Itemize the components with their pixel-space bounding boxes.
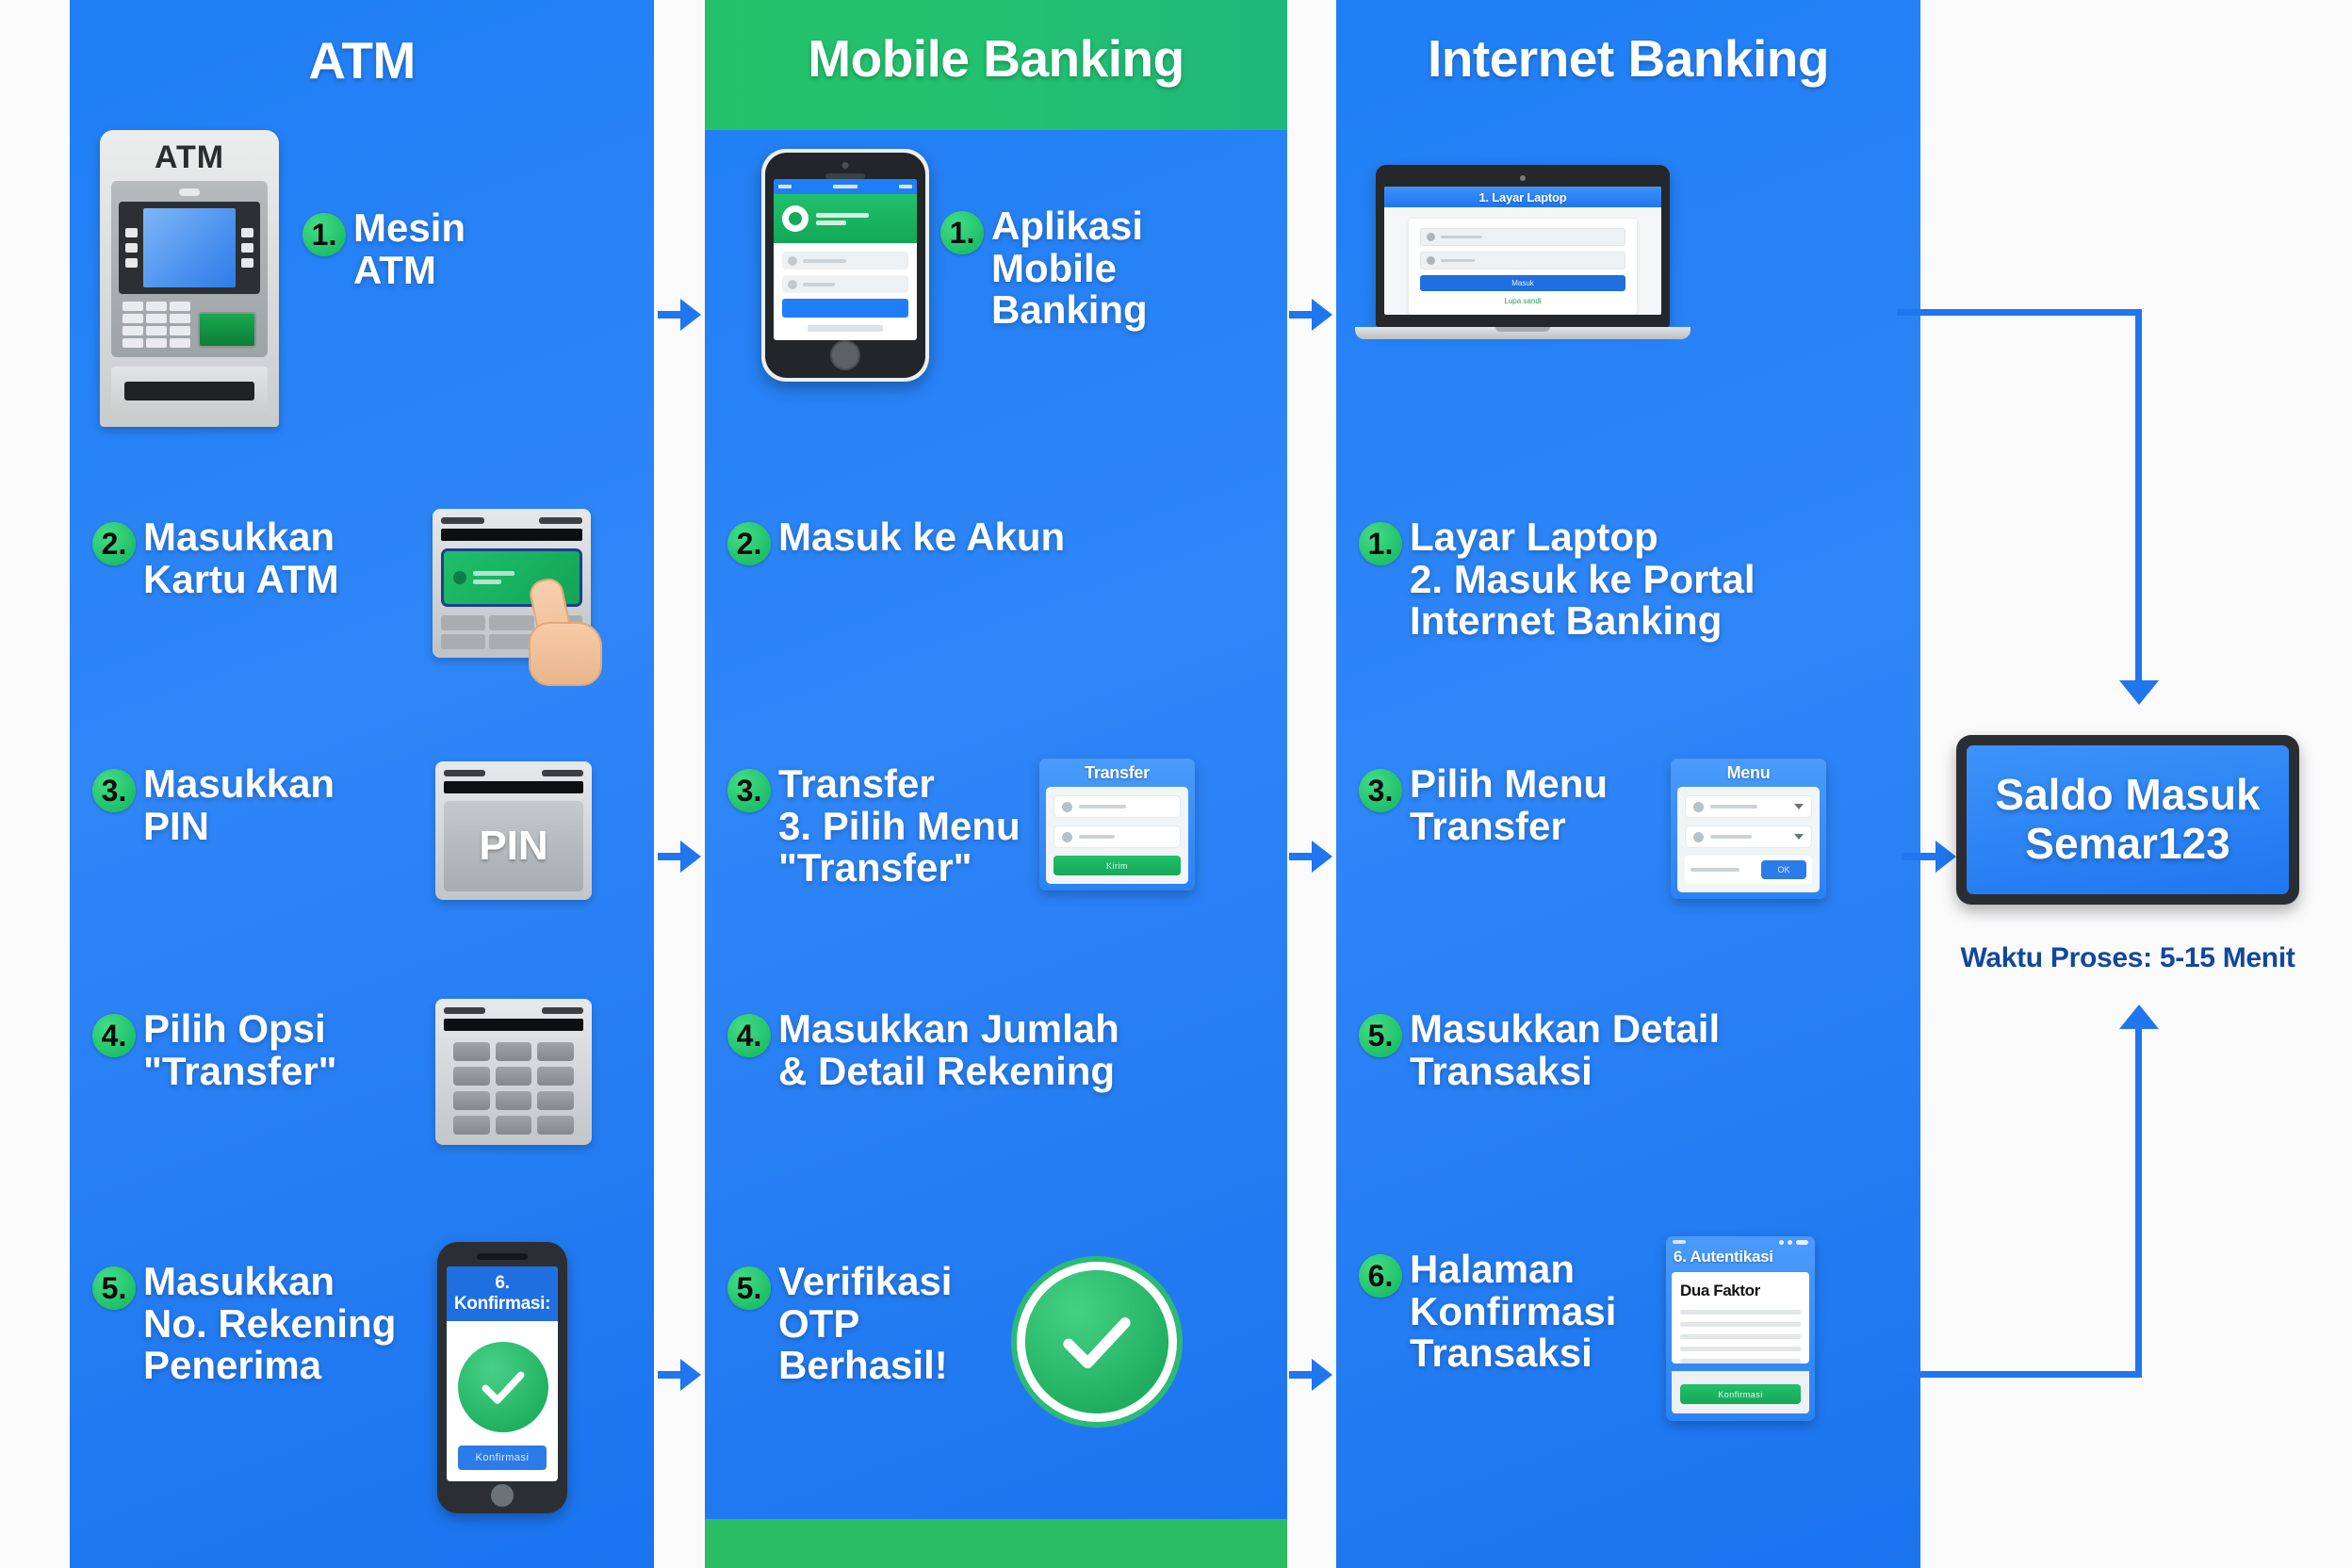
pin-label: PIN (479, 823, 547, 870)
card-reader-icon (433, 509, 591, 658)
phone-confirm-button[interactable]: Konfirmasi (458, 1445, 547, 1470)
step-text: Masukkan No. Rekening Penerima (143, 1261, 396, 1387)
column-atm: ATM ATM (70, 0, 654, 1568)
menu-select-referensi[interactable] (1685, 825, 1812, 848)
chevron-down-icon (1794, 804, 1804, 809)
step-number-badge: 4. (92, 1014, 136, 1057)
arrow-atm-to-mobile-top (658, 306, 701, 323)
laptop-screen-title: 1. Layar Laptop (1384, 187, 1661, 207)
arrow-atm-to-mobile-mid (658, 848, 701, 865)
result-line-2: Semar123 (2025, 820, 2229, 869)
arrow-mobile-to-inet-mid (1289, 848, 1332, 865)
arrow-atm-to-mobile-bottom (658, 1366, 701, 1383)
step-number-badge: 2. (92, 522, 136, 565)
step-atm-4: 4. Pilih Opsi "Transfer" (92, 1008, 403, 1092)
menu-confirm-row: OK (1685, 856, 1812, 884)
check-icon (458, 1342, 548, 1432)
step-text: Masukkan Kartu ATM (143, 516, 339, 600)
connector-top-horizontal (1897, 309, 2142, 316)
step-number-badge: 3. (727, 769, 771, 812)
arrow-mobile-to-inet-bottom (1289, 1366, 1332, 1383)
transfer-app-card: Transfer Kirim (1039, 759, 1195, 890)
menu-app-card: Menu OK (1671, 759, 1826, 899)
auth-card-subtitle: Dua Faktor (1680, 1282, 1801, 1300)
numeric-keypad-icon (435, 999, 592, 1145)
check-circle-icon (1025, 1270, 1168, 1413)
step-number-badge: 6. (1359, 1254, 1402, 1298)
step-inet-1: 1. Layar Laptop 2. Masuk ke Portal Inter… (1359, 516, 1905, 643)
step-mobile-1: 1. Aplikasi Mobile Banking (940, 205, 1251, 332)
menu-ok-button[interactable]: OK (1761, 860, 1806, 879)
column-title-inet: Internet Banking (1336, 28, 1920, 89)
atm-machine-label: ATM (111, 141, 268, 173)
menu-card-title: Menu (1671, 759, 1826, 787)
step-number-badge: 2. (727, 522, 771, 565)
step-inet-3: 3. Pilih Menu Transfer (1359, 763, 1679, 847)
step-text: Masukkan Jumlah & Detail Rekening (778, 1008, 1119, 1092)
column-title-mobile: Mobile Banking (705, 28, 1287, 89)
result-line-1: Saldo Masuk (1995, 771, 2260, 820)
step-number-badge: 1. (940, 211, 984, 254)
transfer-card-title: Transfer (1039, 759, 1195, 787)
step-number-badge: 1. (1359, 522, 1402, 565)
confirmation-phone-icon: 6. Konfirmasi: Konfirmasi (437, 1242, 567, 1513)
connector-bottom-vertical (2135, 1029, 2142, 1378)
transfer-field-rekening[interactable] (1053, 795, 1181, 818)
connector-bottom-horizontal (1897, 1371, 2142, 1378)
arrow-mobile-to-inet-top (1289, 306, 1332, 323)
step-text: Verifikasi OTP Berhasil! (778, 1261, 952, 1387)
step-text: Pilih Menu Transfer (1410, 763, 1608, 847)
step-number-badge: 5. (1359, 1014, 1402, 1057)
connector-top-vertical (2135, 309, 2142, 686)
step-number-badge: 1. (302, 213, 346, 256)
step-text: Masuk ke Akun (778, 516, 1065, 559)
phone-confirm-label: Konfirmasi (476, 1452, 530, 1463)
success-check-badge (1025, 1270, 1168, 1413)
auth-card-title: 6. Autentikasi (1666, 1248, 1815, 1272)
step-atm-1: 1. Mesin ATM (302, 207, 613, 291)
step-number-badge: 5. (92, 1266, 136, 1310)
step-mobile-5: 5. Verifikasi OTP Berhasil! (727, 1261, 1001, 1387)
menu-select-rekening[interactable] (1685, 795, 1812, 818)
laptop-login-label: Masuk (1511, 279, 1534, 287)
step-mobile-4: 4. Masukkan Jumlah & Detail Rekening (727, 1008, 1265, 1092)
process-time-caption: Waktu Proses: 5-15 Menit (1956, 942, 2299, 974)
laptop-mockup: 1. Layar Laptop Masuk Lupa sandi (1376, 165, 1670, 339)
step-number-badge: 5. (727, 1266, 771, 1310)
step-number-badge: 4. (727, 1014, 771, 1057)
step-number-badge: 3. (92, 769, 136, 812)
phone-screen-title: 6. Konfirmasi: (447, 1266, 558, 1321)
step-text: Pilih Opsi "Transfer" (143, 1008, 337, 1092)
laptop-password-field[interactable] (1420, 252, 1625, 269)
auth-confirm-label: Konfirmasi (1718, 1390, 1763, 1399)
mobile-footer-band (705, 1519, 1287, 1568)
transfer-field-nominal[interactable] (1053, 825, 1181, 848)
step-mobile-2: 2. Masuk ke Akun (727, 516, 1255, 565)
step-atm-3: 3. Masukkan PIN (92, 763, 403, 847)
step-text: Transfer 3. Pilih Menu "Transfer" (778, 763, 1021, 890)
step-number-badge: 3. (1359, 769, 1402, 812)
laptop-username-field[interactable] (1420, 228, 1625, 246)
two-factor-auth-card: 6. Autentikasi Dua Faktor Konfirmasi (1666, 1236, 1815, 1421)
step-mobile-3: 3. Transfer 3. Pilih Menu "Transfer" (727, 763, 1048, 890)
step-text: Halaman Konfirmasi Transaksi (1410, 1249, 1616, 1375)
step-inet-5: 5. Masukkan Detail Transaksi (1359, 1008, 1886, 1092)
atm-machine-icon: ATM (100, 130, 279, 427)
step-text: Aplikasi Mobile Banking (991, 205, 1148, 332)
transfer-submit-button[interactable]: Kirim (1053, 856, 1181, 875)
infographic-canvas: ATM ATM (0, 0, 2352, 1568)
laptop-login-button[interactable]: Masuk (1420, 275, 1625, 291)
step-text: Masukkan Detail Transaksi (1410, 1008, 1720, 1092)
connector-top-arrowhead (2119, 680, 2159, 705)
step-atm-5: 5. Masukkan No. Rekening Penerima (92, 1261, 403, 1387)
transfer-submit-label: Kirim (1106, 861, 1128, 871)
auth-confirm-button[interactable]: Konfirmasi (1680, 1384, 1801, 1404)
window-controls-icon (1779, 1240, 1808, 1245)
step-text: Mesin ATM (353, 207, 465, 291)
column-mobile-banking: Mobile Banking (705, 0, 1287, 1568)
step-text: Layar Laptop 2. Masuk ke Portal Internet… (1410, 516, 1756, 643)
step-atm-2: 2. Masukkan Kartu ATM (92, 516, 403, 600)
laptop-forgot-link[interactable]: Lupa sandi (1420, 297, 1625, 305)
step-text: Masukkan PIN (143, 763, 335, 847)
mobile-phone-mockup (761, 149, 929, 382)
result-box: Saldo Masuk Semar123 (1956, 735, 2299, 905)
column-title-atm: ATM (70, 30, 654, 90)
step-inet-6: 6. Halaman Konfirmasi Transaksi (1359, 1249, 1670, 1375)
pin-keypad-icon: PIN (435, 761, 592, 900)
connector-bottom-arrowhead (2119, 1004, 2159, 1029)
column-internet-banking: Internet Banking 1. Layar Laptop Masuk L… (1336, 0, 1920, 1568)
menu-ok-label: OK (1777, 865, 1789, 874)
chevron-down-icon (1794, 834, 1804, 840)
arrow-inet-to-result (1902, 848, 1956, 865)
pointing-hand-icon (529, 579, 602, 682)
